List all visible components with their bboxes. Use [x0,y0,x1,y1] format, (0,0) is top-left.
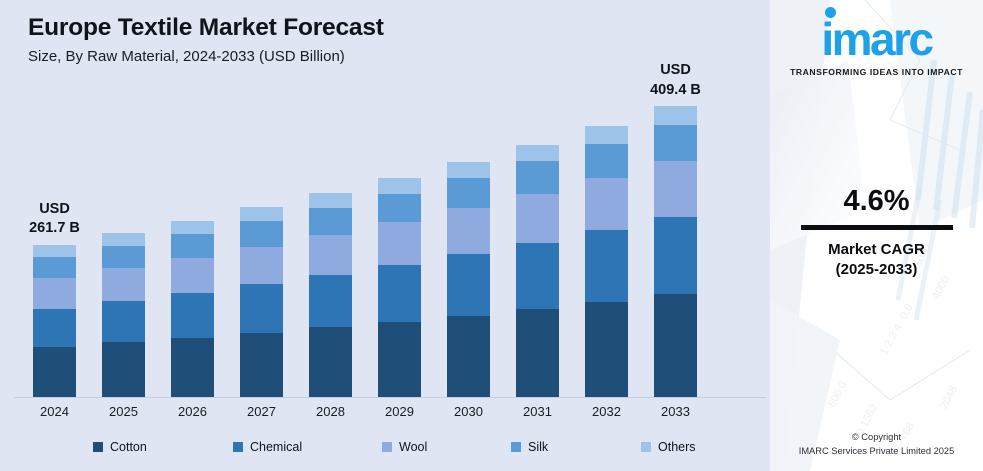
cagr-period: (2025-2033) [770,261,983,278]
bar-2032[interactable] [585,126,628,397]
bar-segment-others-2032[interactable] [585,126,628,144]
legend-swatch-wool-icon [382,442,392,452]
bar-segment-silk-2028[interactable] [309,208,352,235]
total-label-currency: USD [616,61,736,81]
legend-label: Others [658,440,696,454]
legend-label: Cotton [110,440,147,454]
bar-segment-cotton-2024[interactable] [33,347,76,397]
bar-2030[interactable] [447,162,490,397]
bar-segment-others-2026[interactable] [171,221,214,234]
legend-item-wool[interactable]: Wool [382,440,427,454]
legend-swatch-chemical-icon [233,442,243,452]
total-label-value: 409.4 B [616,81,736,101]
bar-segment-wool-2026[interactable] [171,258,214,293]
bar-segment-cotton-2027[interactable] [240,333,283,397]
chart-infographic: Europe Textile Market Forecast Size, By … [0,0,983,471]
bar-segment-silk-2024[interactable] [33,257,76,278]
bar-segment-silk-2033[interactable] [654,125,697,161]
x-tick-2030: 2030 [439,404,499,419]
bar-segment-wool-2028[interactable] [309,235,352,275]
bar-2028[interactable] [309,193,352,397]
x-tick-2026: 2026 [163,404,223,419]
bar-segment-wool-2031[interactable] [516,194,559,243]
legend-label: Wool [399,440,427,454]
bar-segment-chemical-2024[interactable] [33,309,76,347]
bar-segment-silk-2029[interactable] [378,194,421,223]
cagr-divider [801,225,953,230]
legend-swatch-others-icon [641,442,651,452]
bar-segment-cotton-2033[interactable] [654,294,697,397]
total-label-currency: USD [0,200,115,220]
bar-segment-chemical-2031[interactable] [516,243,559,309]
total-label-value: 261.7 B [0,219,115,239]
bar-segment-silk-2032[interactable] [585,144,628,178]
bar-segment-cotton-2025[interactable] [102,342,145,397]
legend-label: Silk [528,440,548,454]
plot-area: 2024202520262027202820292030203120322033… [0,0,770,471]
bar-segment-cotton-2028[interactable] [309,327,352,397]
bar-segment-chemical-2027[interactable] [240,284,283,333]
cagr-value: 4.6% [770,186,983,218]
bar-segment-others-2029[interactable] [378,178,421,193]
bar-segment-silk-2031[interactable] [516,161,559,193]
bar-segment-chemical-2026[interactable] [171,293,214,338]
copyright-line-2: IMARC Services Private Limited 2025 [770,445,983,459]
x-tick-2031: 2031 [508,404,568,419]
bar-segment-wool-2025[interactable] [102,268,145,301]
copyright-notice: © Copyright IMARC Services Private Limit… [770,431,983,459]
bar-segment-cotton-2029[interactable] [378,322,421,397]
bar-segment-wool-2029[interactable] [378,222,421,265]
bar-segment-cotton-2026[interactable] [171,338,214,397]
bar-segment-chemical-2032[interactable] [585,230,628,302]
imarc-logo: imarc TRANSFORMING IDEAS INTO IMPACT [770,16,983,77]
legend-item-cotton[interactable]: Cotton [93,440,147,454]
bar-total-label-2033: USD409.4 B [616,61,736,100]
bar-2031[interactable] [516,145,559,398]
bar-segment-others-2033[interactable] [654,106,697,125]
brand-panel: 5000 4000 0.0 1 2 3 4 500.0 0.1562 77768… [770,0,983,471]
bar-segment-cotton-2030[interactable] [447,316,490,397]
bar-segment-wool-2030[interactable] [447,208,490,254]
x-tick-2027: 2027 [232,404,292,419]
logo-text: imarc [821,13,931,65]
logo-tagline: TRANSFORMING IDEAS INTO IMPACT [770,67,983,77]
legend-item-chemical[interactable]: Chemical [233,440,302,454]
bar-2024[interactable] [33,245,76,397]
legend-label: Chemical [250,440,302,454]
copyright-line-1: © Copyright [770,431,983,445]
bar-segment-wool-2024[interactable] [33,278,76,308]
chart-panel: Europe Textile Market Forecast Size, By … [0,0,770,471]
bar-segment-others-2024[interactable] [33,245,76,257]
bar-segment-others-2028[interactable] [309,193,352,208]
bar-segment-silk-2026[interactable] [171,234,214,258]
bar-segment-chemical-2029[interactable] [378,265,421,322]
bar-segment-wool-2032[interactable] [585,178,628,231]
bar-segment-chemical-2025[interactable] [102,301,145,342]
chart-legend: CottonChemicalWoolSilkOthers [0,440,770,460]
bar-segment-chemical-2028[interactable] [309,275,352,328]
bar-segment-others-2027[interactable] [240,207,283,221]
legend-item-others[interactable]: Others [641,440,696,454]
cagr-block: 4.6% Market CAGR (2025-2033) [770,186,983,278]
bar-2029[interactable] [378,178,421,397]
x-tick-2029: 2029 [370,404,430,419]
x-tick-2032: 2032 [577,404,637,419]
legend-swatch-silk-icon [511,442,521,452]
bar-segment-wool-2027[interactable] [240,247,283,284]
bar-segment-silk-2025[interactable] [102,246,145,269]
legend-item-silk[interactable]: Silk [511,440,548,454]
bar-segment-cotton-2031[interactable] [516,309,559,397]
bar-segment-silk-2030[interactable] [447,178,490,208]
cagr-label: Market CAGR [770,239,983,261]
x-tick-2025: 2025 [94,404,154,419]
legend-swatch-cotton-icon [93,442,103,452]
x-tick-2033: 2033 [646,404,706,419]
x-tick-2024: 2024 [25,404,85,419]
bar-segment-wool-2033[interactable] [654,161,697,217]
bar-2025[interactable] [102,233,145,397]
x-tick-2028: 2028 [301,404,361,419]
logo-wordmark: imarc [821,16,931,62]
bar-segment-others-2031[interactable] [516,145,559,162]
bar-segment-silk-2027[interactable] [240,221,283,246]
bar-segment-others-2030[interactable] [447,162,490,178]
bar-2033[interactable] [654,106,697,397]
bar-2027[interactable] [240,207,283,397]
bar-segment-chemical-2030[interactable] [447,254,490,315]
bar-segment-chemical-2033[interactable] [654,217,697,294]
bar-2026[interactable] [171,221,214,397]
bar-segment-cotton-2032[interactable] [585,302,628,397]
bar-total-label-2024: USD261.7 B [0,200,115,239]
x-axis-line [14,397,766,398]
